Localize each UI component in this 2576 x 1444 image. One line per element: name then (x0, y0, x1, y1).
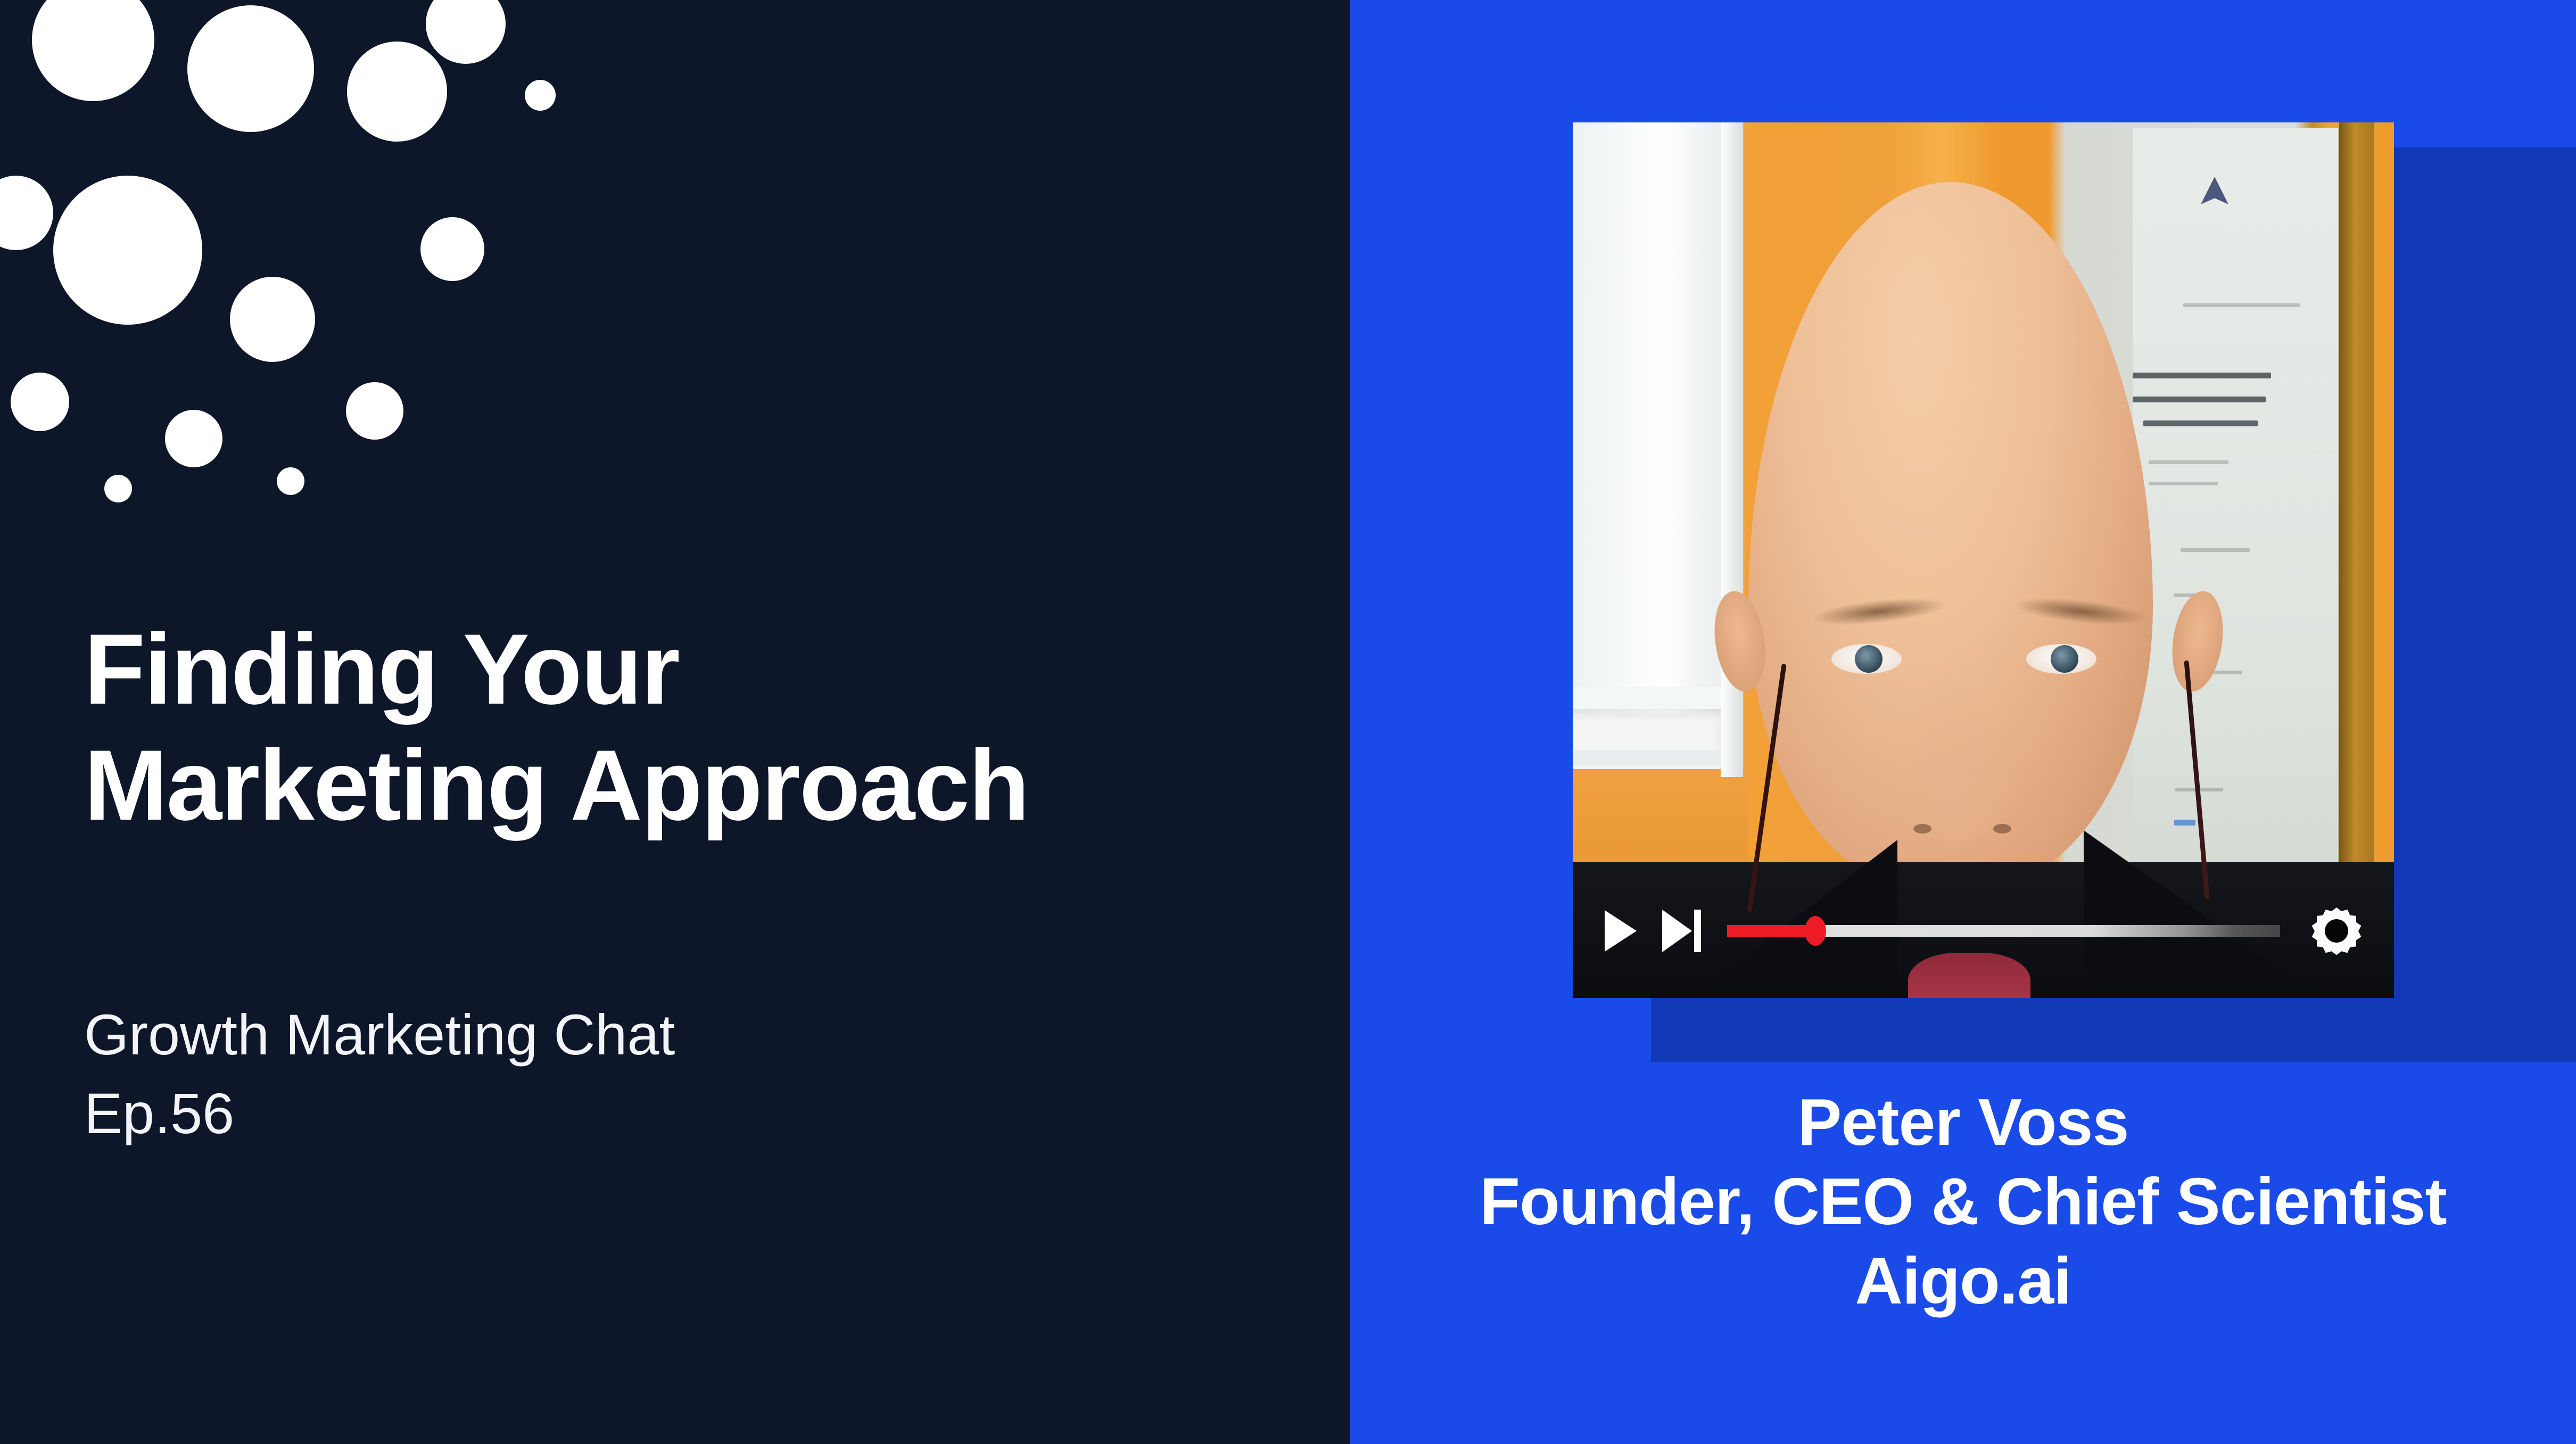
certificate-text-line (2149, 460, 2228, 464)
iris-right (2051, 645, 2078, 673)
episode-number: Ep.56 (84, 1074, 1149, 1153)
progress-scrubber[interactable] (1727, 910, 2280, 952)
certificate-text-line (2174, 820, 2195, 826)
certificate-text-line (2133, 397, 2266, 402)
certificate-frame-edge (2339, 122, 2374, 884)
speaker-company: Aigo.ai (1372, 1242, 2555, 1321)
play-icon[interactable] (1605, 910, 1637, 952)
speaker-name: Peter Voss (1372, 1083, 2555, 1162)
nose (1897, 671, 2014, 841)
certificate-text-line (2183, 303, 2300, 307)
subtitle-block: Growth Marketing Chat Ep.56 (84, 995, 1149, 1153)
framed-certificate (2133, 128, 2346, 878)
video-player[interactable] (1573, 122, 2394, 998)
certificate-text-line (2181, 548, 2250, 552)
decorative-dot (104, 475, 132, 502)
next-track-triangle (1662, 910, 1692, 952)
player-controls (1573, 864, 2394, 998)
decorative-dot (525, 80, 556, 111)
decorative-dot (420, 217, 484, 281)
certificate-text-line (2143, 420, 2258, 426)
decorative-dot (32, 0, 154, 101)
decorative-dot (346, 382, 403, 440)
window-pane (1573, 122, 1727, 713)
certificate-text-line (2133, 373, 2271, 378)
window-sill-lower (1573, 750, 1732, 765)
decorative-dot (277, 467, 304, 495)
speaker-caption: Peter Voss Founder, CEO & Chief Scientis… (1350, 1083, 2576, 1321)
decorative-dot (11, 373, 69, 431)
nostril-left (1913, 824, 1931, 834)
next-track-bar (1694, 910, 1701, 952)
left-panel: Finding Your Marketing Approach Growth M… (0, 0, 1350, 1444)
decorative-dot (426, 0, 506, 64)
podcast-episode-slide: Finding Your Marketing Approach Growth M… (0, 0, 2576, 1444)
iris-left (1855, 645, 1883, 673)
decorative-dot (187, 5, 314, 132)
certificate-logo-icon (2195, 177, 2234, 215)
decorative-dot (53, 176, 202, 325)
show-name: Growth Marketing Chat (84, 995, 1149, 1074)
certificate-text-line (2149, 482, 2218, 485)
progress-handle[interactable] (1805, 916, 1826, 946)
window-sill (1573, 687, 1732, 709)
decorative-dot (0, 176, 53, 250)
progress-fill (1727, 925, 1815, 937)
decorative-dot (230, 277, 315, 362)
decorative-dot (165, 410, 222, 467)
next-track-icon[interactable] (1662, 910, 1699, 952)
speaker-role: Founder, CEO & Chief Scientist (1372, 1162, 2555, 1242)
decorative-dot (347, 42, 447, 142)
dot-pattern-decoration (0, 0, 692, 532)
nostril-right (1993, 824, 2011, 834)
gear-icon[interactable] (2310, 904, 2363, 958)
page-title: Finding Your Marketing Approach (84, 611, 1308, 843)
title-block: Finding Your Marketing Approach (84, 611, 1308, 843)
right-panel: Peter Voss Founder, CEO & Chief Scientis… (1350, 0, 2576, 1444)
